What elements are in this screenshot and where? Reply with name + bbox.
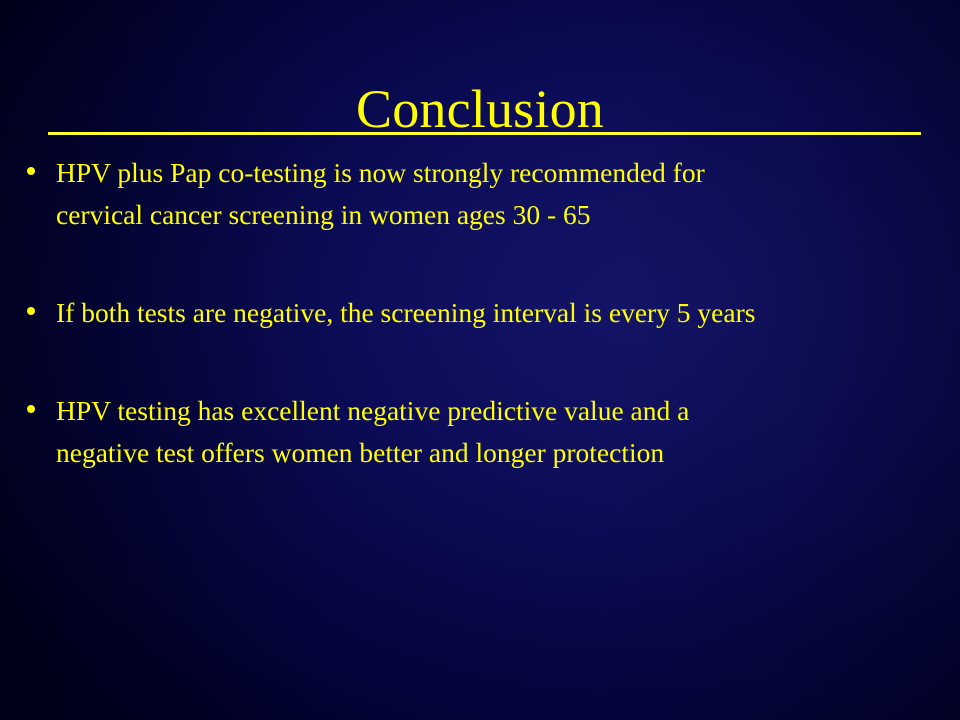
bullet-point-icon	[27, 307, 35, 315]
bullet-line: HPV testing has excellent negative predi…	[56, 390, 948, 432]
bullet-point-icon	[27, 405, 35, 413]
list-item: HPV testing has excellent negative predi…	[22, 390, 948, 474]
title-divider-rule	[48, 132, 921, 135]
bullet-list: HPV plus Pap co-testing is now strongly …	[22, 152, 948, 474]
list-item: HPV plus Pap co-testing is now strongly …	[22, 152, 948, 236]
bullet-line: HPV plus Pap co-testing is now strongly …	[56, 152, 948, 194]
bullet-text: If both tests are negative, the screenin…	[56, 292, 948, 334]
bullet-line: negative test offers women better and lo…	[56, 432, 948, 474]
bullet-text: HPV testing has excellent negative predi…	[56, 390, 948, 474]
slide-title: Conclusion	[0, 78, 960, 140]
bullet-line: If both tests are negative, the screenin…	[56, 292, 948, 334]
bullet-point-icon	[27, 167, 35, 175]
presentation-slide: Conclusion HPV plus Pap co-testing is no…	[0, 0, 960, 720]
bullet-text: HPV plus Pap co-testing is now strongly …	[56, 152, 948, 236]
bullet-line: cervical cancer screening in women ages …	[56, 194, 948, 236]
list-item: If both tests are negative, the screenin…	[22, 292, 948, 334]
